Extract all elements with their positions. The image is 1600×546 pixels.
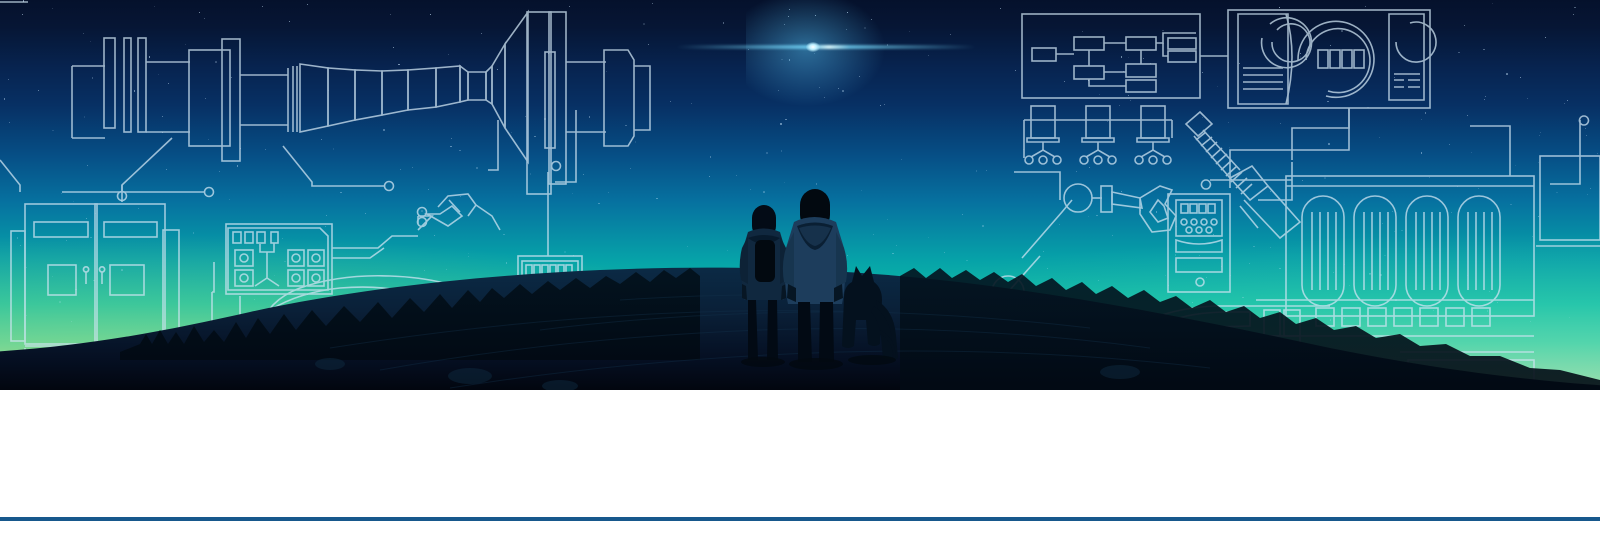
- tree-ridge-left: [120, 268, 700, 360]
- footer-whitespace: [0, 521, 1600, 546]
- tree-ridge-right: [900, 268, 1600, 390]
- caption-bar: Contributing to the creation of a sustai…: [0, 390, 1600, 519]
- sustainability-banner: Contributing to the creation of a sustai…: [0, 0, 1600, 546]
- hilltop-scene: [0, 0, 1600, 390]
- hero-image: [0, 0, 1600, 390]
